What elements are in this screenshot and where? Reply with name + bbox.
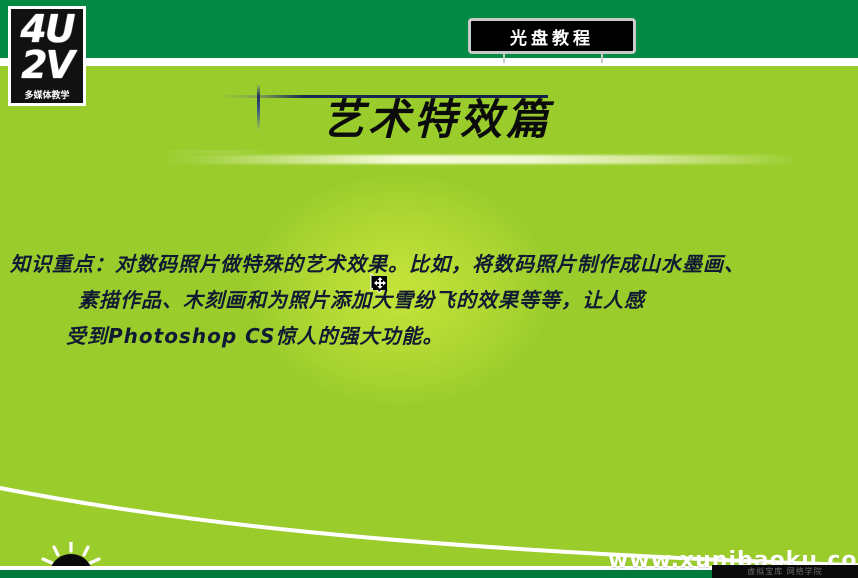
title-accent-vertical-line [257,85,260,130]
watermark-bar-label: 虚拟宝库 网络学院 [712,565,858,578]
presentation-slide: 4U 2V 多媒体教学 光盘教程 艺术特效篇 知识重点：对数码照片做特殊的艺术效… [0,0,858,578]
title-underline-brush [160,155,800,164]
body-line-2: 素描作品、木刻画和为照片添加大雪纷飞的效果等等，让人感 [0,282,858,318]
plate-leg-left [503,53,505,63]
brand-logo: 4U 2V 多媒体教学 [8,6,86,106]
title-underline-brush-tail [150,150,270,154]
logo-mark-line1: 4U [11,11,83,47]
header-plate-label: 光盘教程 [510,24,594,49]
watermark-bar: 虚拟宝库 网络学院 [712,565,858,578]
body-text-block: 知识重点：对数码照片做特殊的艺术效果。比如，将数码照片制作成山水墨画、 素描作品… [0,246,858,354]
header-plate: 光盘教程 [468,18,636,54]
logo-mark: 4U 2V [11,9,83,80]
logo-subtitle: 多媒体教学 [11,91,83,102]
logo-mark-line2: 2V [11,47,83,83]
page-title: 艺术特效篇 [322,95,552,145]
plate-leg-right [601,53,603,63]
body-line-3: 受到Photoshop CS惊人的强大功能。 [0,318,858,354]
top-white-divider [0,58,858,66]
top-green-band [0,0,858,58]
body-line-1: 知识重点：对数码照片做特殊的艺术效果。比如，将数码照片制作成山水墨画、 [0,246,858,282]
